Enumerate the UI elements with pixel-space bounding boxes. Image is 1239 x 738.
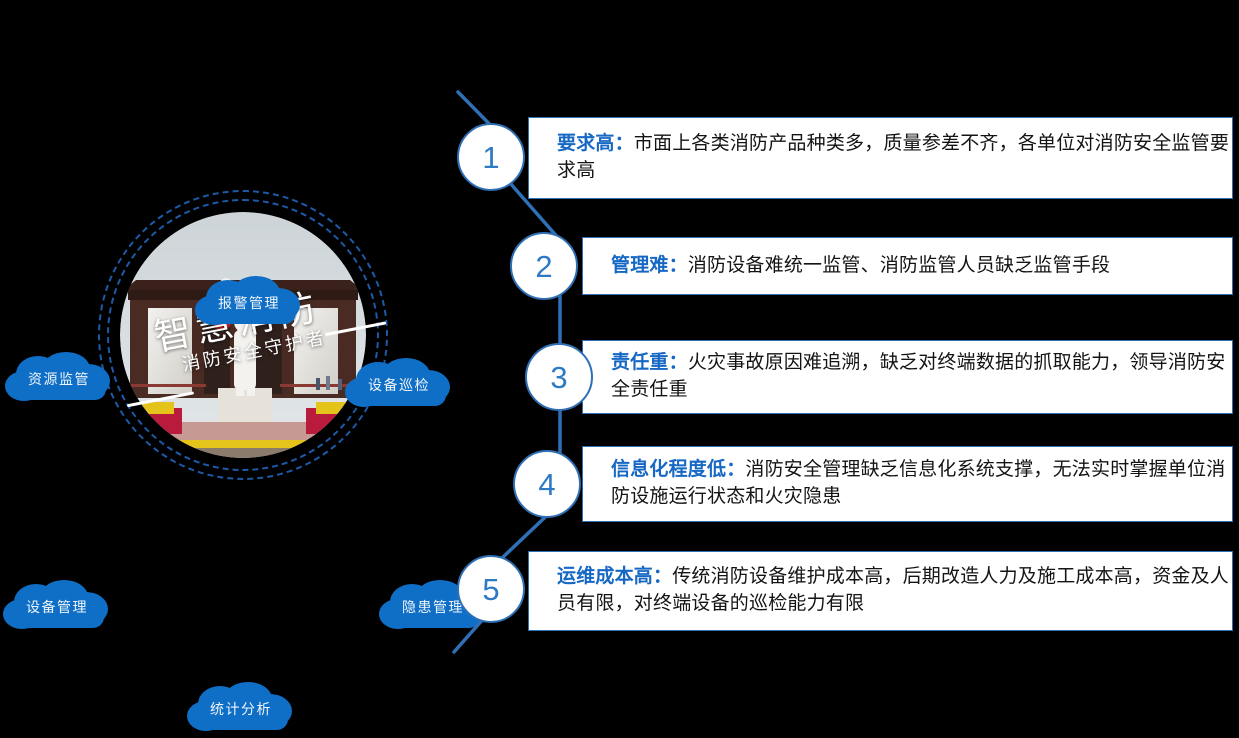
pain-point-flow: 要求高：市面上各类消防产品种类多，质量参差不齐，各单位对消防安全监管要求高 1 … — [440, 0, 1239, 658]
flow-text-2: 管理难：消防设备难统一监管、消防监管人员缺乏监管手段 — [583, 253, 1110, 280]
cloud-label: 报警管理 — [194, 276, 304, 332]
flow-text-3: 责任重：火灾事故原因难追溯，缺乏对终端数据的抓取能力，领导消防安全责任重 — [583, 350, 1232, 404]
flow-bar-4[interactable]: 信息化程度低：消防安全管理缺乏信息化系统支撑，无法实时掌握单位消防设施运行状态和… — [582, 446, 1233, 522]
flow-number-2[interactable]: 2 — [510, 232, 578, 300]
flow-number-3[interactable]: 3 — [525, 343, 593, 411]
cloud-device-inspection[interactable]: 设备巡检 — [344, 358, 454, 414]
flow-text-1: 要求高：市面上各类消防产品种类多，质量参差不齐，各单位对消防安全监管要求高 — [529, 131, 1232, 185]
cloud-statistical-analysis[interactable]: 统计分析 — [186, 682, 296, 738]
cloud-alarm-management[interactable]: 报警管理 — [194, 276, 304, 332]
cloud-label: 设备管理 — [2, 580, 112, 636]
flow-body-3: 火灾事故原因难追溯，缺乏对终端数据的抓取能力，领导消防安全责任重 — [611, 352, 1225, 400]
flow-body-2: 消防设备难统一监管、消防监管人员缺乏监管手段 — [688, 255, 1110, 276]
circular-photo — [120, 212, 366, 458]
smart-fire-emblem: 智慧消防 消防安全守护者 报警管理 — [0, 130, 500, 650]
cloud-label: 资源监管 — [4, 352, 114, 408]
flow-lead-5: 运维成本高： — [557, 566, 672, 587]
flow-bar-3[interactable]: 责任重：火灾事故原因难追溯，缺乏对终端数据的抓取能力，领导消防安全责任重 — [582, 340, 1233, 414]
flow-bar-1[interactable]: 要求高：市面上各类消防产品种类多，质量参差不齐，各单位对消防安全监管要求高 — [528, 117, 1233, 199]
flow-lead-2: 管理难： — [611, 255, 688, 276]
flow-number-label-2: 2 — [535, 251, 552, 282]
flow-lead-3: 责任重： — [611, 352, 688, 373]
flow-number-label-1: 1 — [482, 142, 499, 173]
flow-lead-4: 信息化程度低： — [611, 459, 745, 480]
cloud-resource-supervision[interactable]: 资源监管 — [4, 352, 114, 408]
flow-lead-1: 要求高： — [557, 133, 634, 154]
cloud-label: 设备巡检 — [344, 358, 454, 414]
cloud-device-management[interactable]: 设备管理 — [2, 580, 112, 636]
flow-text-5: 运维成本高：传统消防设备维护成本高，后期改造人力及施工成本高，资金及人员有限，对… — [529, 564, 1232, 618]
flow-text-4: 信息化程度低：消防安全管理缺乏信息化系统支撑，无法实时掌握单位消防设施运行状态和… — [583, 457, 1232, 511]
flow-number-4[interactable]: 4 — [513, 450, 581, 518]
flow-number-5[interactable]: 5 — [457, 555, 525, 623]
cloud-label: 统计分析 — [186, 682, 296, 738]
flow-body-1: 市面上各类消防产品种类多，质量参差不齐，各单位对消防安全监管要求高 — [557, 133, 1229, 181]
slide-canvas: 智慧消防 消防安全守护者 报警管理 — [0, 0, 1239, 658]
flow-number-label-5: 5 — [482, 574, 499, 605]
flow-number-1[interactable]: 1 — [457, 123, 525, 191]
flow-number-label-3: 3 — [550, 362, 567, 393]
flow-bar-2[interactable]: 管理难：消防设备难统一监管、消防监管人员缺乏监管手段 — [582, 237, 1233, 295]
flow-bar-5[interactable]: 运维成本高：传统消防设备维护成本高，后期改造人力及施工成本高，资金及人员有限，对… — [528, 551, 1233, 631]
flow-number-label-4: 4 — [538, 469, 555, 500]
